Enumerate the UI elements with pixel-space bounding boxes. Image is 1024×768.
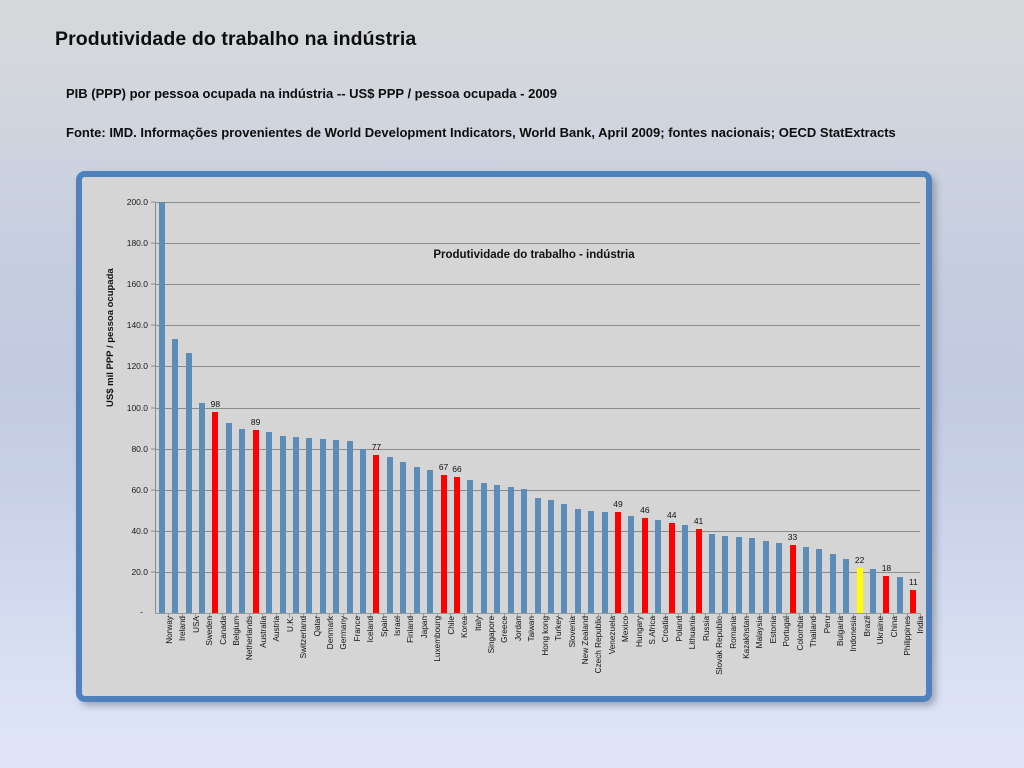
x-axis-label: Italy [474,601,483,616]
bar-value-label: 66 [452,464,461,474]
x-axis-label-text: Iceland [366,616,375,642]
x-axis-label: Denmark [326,583,335,616]
x-axis-label-text: Japan [420,616,429,638]
x-axis-label-text: Taiwan [527,616,536,642]
x-axis-label-text: Chile [447,616,456,635]
x-axis-label: Ireland [178,591,187,616]
bar-value-label: 89 [251,417,260,427]
bar [454,477,460,613]
x-axis-label-text: Finland [406,616,415,643]
y-axis-tick-label: 160.0 [127,279,148,289]
x-axis-label: Belgium [232,586,241,616]
bar [360,449,366,613]
x-axis-label-text: Ireland [178,616,187,641]
page-title: Produtividade do trabalho na indústria [55,28,416,51]
chart-plot-area: Produtividade do trabalho - indústria US… [82,177,926,696]
bar [467,480,473,613]
x-axis-label-text: Kazakhstan [742,616,751,659]
x-axis-label-text: Jordan [514,616,523,641]
x-axis-label-text: India [916,616,925,634]
x-axis-label: Singapore [487,579,496,616]
x-axis-label-text: Spain [380,616,389,637]
x-axis-label: Canada [219,587,228,616]
x-axis-label-text: Peru [823,616,832,633]
x-axis-label-text: Ukraine [876,616,885,644]
x-axis-label-text: S.Africa [648,616,657,645]
x-axis-label-text: Norway [165,616,174,644]
y-axis-tick-label: 100.0 [127,403,148,413]
bar [293,437,299,613]
x-axis-label: New Zealand [581,568,590,616]
y-axis-title: US$ mil PPP / pessoa ocupada [105,268,116,407]
bar-value-label: 44 [667,510,676,520]
x-axis-label: France [353,591,362,616]
bar [280,436,286,613]
x-axis-label-text: Denmark [326,616,335,649]
x-axis-label: Lithuania [688,583,697,616]
chart-frame: Produtividade do trabalho - indústria US… [76,171,932,702]
x-axis-label-text: Bulgaria [836,616,845,646]
bar-value-label: 67 [439,462,448,472]
x-axis-label: Kazakhstan [742,573,751,616]
x-axis-labels: NorwayIrelandUSASwedenCanadaBelgiumNethe… [155,614,920,694]
x-axis-label: Philippines [903,576,912,616]
x-axis-label: Russia [702,591,711,616]
x-axis-label-text: Mexico [621,616,630,642]
x-axis-label: Indonesia [849,580,858,616]
x-axis-label: Finland [406,589,415,616]
x-axis-label-text: Austria [272,616,281,641]
x-axis-label: India [916,598,925,616]
x-axis-label: Germany [339,582,348,616]
bar [226,423,232,613]
x-axis-label: Luxembourg [433,570,442,616]
x-axis-label: Korea [460,594,469,616]
x-axis-label: Thailand [809,585,818,616]
x-axis-label: Netherlands [245,572,254,616]
y-axis-tick-label: 140.0 [127,320,148,330]
x-axis-label: S.Africa [648,587,657,616]
bar-value-label: 49 [613,499,622,509]
plot: 20.040.060.080.0100.0120.0140.0160.0180.… [155,202,920,613]
x-axis-label: Norway [165,588,174,616]
x-axis-label-text: France [353,616,362,641]
x-axis-label-text: Greece [500,616,509,643]
x-axis-label-text: Italy [474,616,483,631]
bar [387,457,393,613]
y-axis-tick-label: 80.0 [131,444,148,454]
x-axis-label-text: Russia [702,616,711,641]
x-axis-label: Brazil [863,596,872,616]
x-axis-label: Taiwan [527,591,536,617]
source-note: Fonte: IMD. Informações provenientes de … [66,123,946,142]
x-axis-label: Czech Republic [594,559,603,616]
x-axis-label: China [890,595,899,616]
x-axis-label: Croatia [661,590,670,616]
y-axis-tick-label: 180.0 [127,238,148,248]
x-axis-label-text: Slovenia [568,616,577,647]
x-axis-label: Chile [447,597,456,616]
x-axis-label-text: Belgium [232,616,241,646]
x-axis-label: Japan [420,594,429,616]
x-axis-label: Ukraine [876,588,885,616]
x-axis-label-text: Venezuela [608,616,617,654]
x-axis-label: Hong kong [541,576,550,616]
x-axis-label-text: Portugal [782,616,791,647]
bar [212,412,218,613]
x-axis-label: Iceland [366,590,375,616]
x-axis-label: Austria [272,591,281,616]
bar-value-label: 46 [640,505,649,515]
x-axis-label-text: Turkey [554,616,563,641]
x-axis-label: Greece [500,589,509,616]
x-axis-label-text: Slovak Republic [715,616,724,675]
x-axis-label-text: New Zealand [581,616,590,664]
x-axis-label: Venezuela [608,578,617,616]
x-axis-label: Jordan [514,591,523,616]
x-axis-label-text: Lithuania [688,616,697,649]
x-axis-label-text: Thailand [809,616,818,647]
x-axis-label: Bulgaria [836,586,845,616]
x-axis-label-text: Singapore [487,616,496,653]
x-axis-label: Hungary [635,585,644,616]
x-axis-label-text: Qatar [313,616,322,636]
x-axis-label-text: Philippines [903,616,912,656]
y-axis-tick-label: 200.0 [127,197,148,207]
bar [199,403,205,613]
x-axis-label: USA [192,599,201,616]
x-axis-label: Switzerland [299,574,308,616]
x-axis-label: Israel [393,596,402,616]
x-axis-label-text: Switzerland [299,616,308,658]
x-axis-label-text: China [890,616,899,637]
x-axis-label: Portugal [782,586,791,617]
x-axis-label-text: U.K. [286,616,295,632]
x-axis-label: Romania [729,583,738,616]
bar-value-label: 77 [372,442,381,452]
x-axis-label-text: Estonia [769,616,778,643]
bar-series: 98897767664946444133221811 [155,202,920,613]
x-axis-label: Poland [675,591,684,617]
x-axis-label-text: Sweden [205,616,214,646]
bar-value-label: 33 [788,532,797,542]
bar-value-label: 98 [211,399,220,409]
x-axis-label-text: Colombia [796,616,805,651]
bar [172,339,178,613]
x-axis-label-text: Luxembourg [433,616,442,662]
x-axis-label: Estonia [769,589,778,616]
x-axis-label-text: Hungary [635,616,644,647]
y-axis-zero-tick: - [140,607,143,617]
x-axis-label: Turkey [554,591,563,616]
x-axis-label-text: Brazil [863,616,872,636]
x-axis-label: Qatar [313,596,322,616]
y-axis-tick-label: 120.0 [127,361,148,371]
y-axis-tick-label: 60.0 [131,485,148,495]
bar [320,439,326,613]
x-axis-label-text: Netherlands [245,616,254,660]
x-axis-label-text: Canada [219,616,228,645]
x-axis-label-text: Malaysia [755,616,764,648]
x-axis-label: Slovenia [568,585,577,616]
x-axis-label-text: Hong kong [541,616,550,656]
x-axis-label: U.K. [286,600,295,616]
bar-value-label: 22 [855,555,864,565]
x-axis-label-text: Indonesia [849,616,858,652]
x-axis-label: Spain [380,595,389,616]
x-axis-label-text: Czech Republic [594,616,603,673]
x-axis-label: Malaysia [755,584,764,616]
bar [186,353,192,613]
bar-value-label: 41 [694,516,703,526]
x-axis-label: Sweden [205,586,214,616]
y-axis-tick-label: 40.0 [131,526,148,536]
bar [159,202,165,613]
x-axis-label-text: Germany [339,616,348,650]
bar-value-label: 18 [882,563,891,573]
x-axis-label-text: Australia [259,616,268,648]
x-axis-label: Mexico [621,590,630,616]
x-axis-label-text: USA [192,616,201,633]
x-axis-label: Colombia [796,581,805,616]
x-axis-label: Peru [823,599,832,616]
x-axis-label-text: Korea [460,616,469,638]
x-axis-label-text: Israel [393,616,402,636]
x-axis-label: Australia [259,584,268,616]
x-axis-label-text: Croatia [661,616,670,642]
slide-subtitle: PIB (PPP) por pessoa ocupada na indústri… [66,86,557,101]
x-axis-label-text: Romania [729,616,738,649]
bar [481,483,487,613]
y-axis-tick-label: 20.0 [131,567,148,577]
x-axis-label-text: Poland [675,616,684,642]
x-axis-label: Slovak Republic [715,557,724,616]
